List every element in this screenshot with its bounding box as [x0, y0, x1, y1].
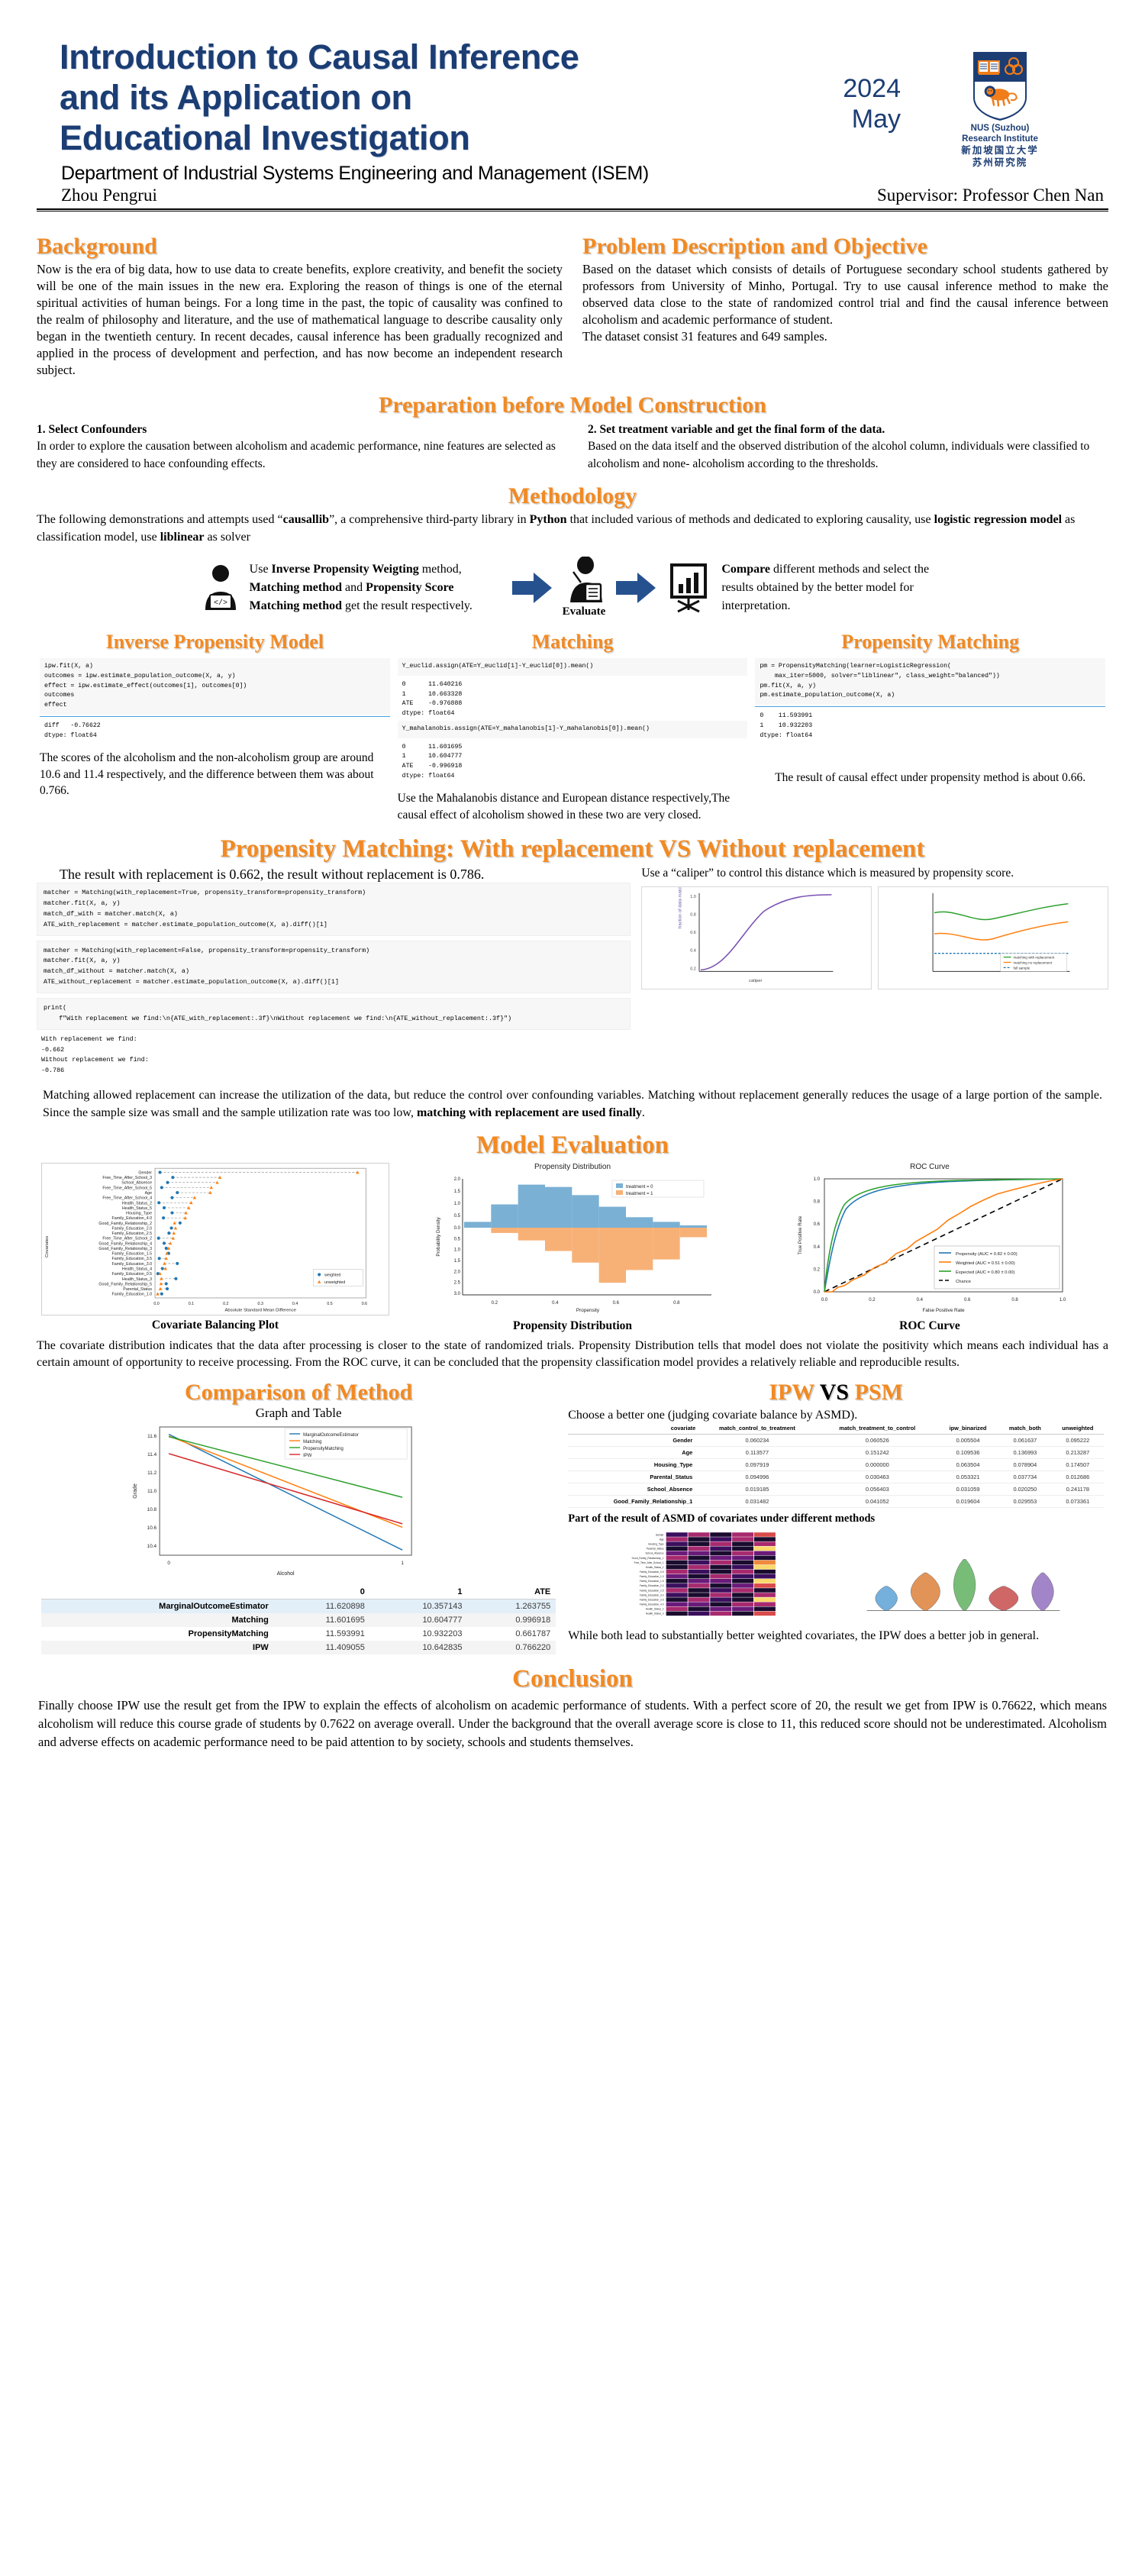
svg-text:2.5: 2.5: [454, 1280, 461, 1285]
logo-en-line1: NUS (Suzhou): [950, 123, 1050, 134]
ipw-label: IPW: [769, 1380, 814, 1405]
svg-text:full sample: full sample: [1014, 966, 1030, 970]
matching-note: Use the Mahalanobis distance and Europea…: [398, 790, 748, 823]
methodology-flow: </> Use Inverse Propensity Weigting meth…: [37, 557, 1108, 618]
table-row: Parental_Status 0.094996 0.030463 0.0533…: [568, 1471, 1104, 1483]
matching-code-input-2: Y_mahalanobis.assign(ATE=Y_mahalanobis[1…: [398, 721, 748, 738]
svg-text:matching no replacement: matching no replacement: [1014, 960, 1053, 964]
asmd-th-4: match_both: [998, 1422, 1052, 1435]
svg-text:matching with replacement: matching with replacement: [1014, 955, 1055, 959]
svg-text:11.4: 11.4: [147, 1452, 156, 1457]
meth-python: Python: [530, 513, 567, 526]
asmd-th-5: unweighted: [1052, 1422, 1104, 1435]
teacher-presenting-icon: [563, 557, 605, 604]
svg-text:Family_Education_1.5: Family_Education_1.5: [640, 1580, 664, 1583]
svg-text:Family_Education_3.5: Family_Education_3.5: [640, 1599, 664, 1602]
svg-text:0.4: 0.4: [691, 948, 697, 953]
asmd-r0-v1: 0.060526: [818, 1435, 937, 1447]
cmp-row3-v0: 11.409055: [274, 1641, 370, 1654]
svg-text:Alcohol: Alcohol: [277, 1571, 295, 1577]
cmp-row0-v2: 1.263755: [467, 1600, 556, 1614]
asmd-r1-v3: 0.136993: [998, 1447, 1052, 1459]
asmd-r4-v4: 0.241178: [1052, 1483, 1104, 1496]
asmd-r4-v3: 0.020250: [998, 1483, 1052, 1496]
code-person-icon: </>: [202, 564, 239, 612]
evaluation-charts-row: GenderFree_Time_After_School_3School_Abs…: [31, 1163, 1114, 1333]
asmd-r2-v1: 0.000000: [818, 1459, 937, 1471]
svg-text:fraction of data matched: fraction of data matched: [679, 887, 683, 928]
background-heading: Background: [37, 234, 563, 260]
svg-text:Health_Status_3: Health_Status_3: [646, 1612, 664, 1616]
svg-text:Gender: Gender: [656, 1533, 665, 1536]
asmd-r2-v4: 0.174507: [1052, 1459, 1104, 1471]
asmd-r4-v0: 0.019185: [697, 1483, 817, 1496]
evaluation-section: Model Evaluation GenderFree_Time_After_S…: [31, 1131, 1114, 1372]
svg-text:unweighted: unweighted: [324, 1280, 345, 1285]
matching-code-output-1: 0 11.640216 1 10.663328 ATE -0.976888 dt…: [398, 676, 748, 721]
propensity-distribution-chart: 2.01.51.00.50.00.51.01.52.02.53.0 0.20.4…: [398, 1173, 747, 1316]
nus-crest-icon: [970, 50, 1030, 121]
svg-text:0: 0: [167, 1561, 170, 1566]
svg-text:Free_Time_After_School_5: Free_Time_After_School_5: [102, 1186, 152, 1190]
title-line-1: Introduction to Causal Inference: [60, 37, 718, 77]
table-row: Housing_Type 0.097919 0.000000 0.063504 …: [568, 1459, 1104, 1471]
cmp-row2-v0: 11.593991: [274, 1627, 370, 1641]
asmd-r1-name: Age: [568, 1447, 697, 1459]
asmd-r0-v2: 0.005504: [937, 1435, 998, 1447]
flow-b1: Inverse Propensity Weigting: [272, 563, 419, 576]
table-row: Good_Family_Relationship_1 0.031482 0.04…: [568, 1496, 1104, 1508]
covariate-balancing-cell: GenderFree_Time_After_School_3School_Abs…: [41, 1163, 389, 1332]
svg-text:2.0: 2.0: [454, 1177, 461, 1182]
meth-t1: The following demonstrations and attempt…: [37, 513, 283, 526]
cmp-row1-v0: 11.601695: [274, 1613, 370, 1627]
table-row: Matching 11.601695 10.604777 0.996918: [41, 1613, 556, 1627]
svg-text:1.0: 1.0: [454, 1248, 461, 1252]
ipw-code-output: diff -0.76622 dtype: float64: [40, 717, 390, 742]
logo-text-en: NUS (Suzhou) Research Institute: [950, 123, 1050, 144]
svg-text:Family_Education_1.0: Family_Education_1.0: [640, 1575, 664, 1578]
preparation-item-2-title: 2. Set treatment variable and get the fi…: [588, 423, 885, 436]
svg-text:MarginalOutcomeEstimator: MarginalOutcomeEstimator: [303, 1433, 359, 1438]
table-row: IPW 11.409055 10.642835 0.766220: [41, 1641, 556, 1654]
svg-text:0.2: 0.2: [223, 1301, 228, 1306]
comparison-table-header-row: 0 1 ATE: [41, 1585, 556, 1600]
svg-text:0.6: 0.6: [613, 1301, 620, 1306]
psm-code-output: 0 11.593991 1 10.932203 dtype: float64: [755, 707, 1105, 742]
repl-para-bold: matching with replacement are used final…: [417, 1106, 642, 1119]
replacement-paragraph: Matching allowed replacement can increas…: [37, 1087, 1108, 1122]
authors-line: Zhou Pengrui Supervisor: Professor Chen …: [31, 186, 1114, 205]
svg-text:Family_Education_0.5: Family_Education_0.5: [640, 1570, 664, 1574]
asmd-r5-v0: 0.031482: [697, 1496, 817, 1508]
svg-text:0.6: 0.6: [691, 931, 697, 935]
asmd-r0-v0: 0.060234: [697, 1435, 817, 1447]
supervisor-name: Supervisor: Professor Chen Nan: [877, 186, 1104, 205]
meth-model: logistic regression model: [934, 513, 1062, 526]
header-divider-thin: [37, 211, 1108, 211]
svg-text:Housing_Type: Housing_Type: [648, 1543, 664, 1546]
ipw-psm-heading: IPW VS PSM: [568, 1380, 1104, 1406]
page-title: Introduction to Causal Inference and its…: [31, 37, 718, 158]
conclusion-section: Conclusion Finally choose IPW use the re…: [31, 1665, 1114, 1751]
table-row: School_Absence 0.019185 0.056403 0.03105…: [568, 1483, 1104, 1496]
caliper-fraction-chart: fraction of data matched 1.0 0.8 0.6 0.4…: [641, 886, 872, 989]
roc-curve-chart: 0.00.20.40.60.81.0 0.00.20.40.60.81.0 Tr…: [756, 1173, 1104, 1316]
cmp-row2-v2: 0.661787: [467, 1627, 556, 1641]
meth-t5: as solver: [205, 531, 250, 544]
repl-para-end: .: [642, 1106, 645, 1119]
flow-r-bold: Compare: [721, 563, 770, 576]
svg-text:0.0: 0.0: [454, 1226, 461, 1231]
asmd-r2-name: Housing_Type: [568, 1459, 697, 1471]
flow-step-evaluate: Evaluate: [563, 557, 606, 618]
background-text: Now is the era of big data, how to use d…: [37, 261, 563, 379]
svg-text:Family_Education_3.0: Family_Education_3.0: [112, 1261, 153, 1266]
psm-code-input: pm = PropensityMatching(learner=Logistic…: [755, 658, 1105, 705]
svg-text:0.4: 0.4: [814, 1244, 821, 1249]
svg-text:11.0: 11.0: [147, 1489, 156, 1494]
svg-text:Grade: Grade: [133, 1483, 138, 1499]
intro-section: Background Now is the era of big data, h…: [31, 234, 1114, 379]
comparison-th-1: 1: [370, 1585, 468, 1600]
cmp-row3-v2: 0.766220: [467, 1641, 556, 1654]
flow-step-1-text: Use Inverse Propensity Weigting method, …: [250, 560, 502, 615]
svg-text:IPW: IPW: [303, 1454, 312, 1458]
svg-text:Good_Family_Relationship_5: Good_Family_Relationship_5: [98, 1282, 152, 1286]
svg-text:0.2: 0.2: [814, 1267, 821, 1272]
bar-chart-board-icon: [666, 563, 711, 613]
flow-step-3-text: Compare different methods and select the…: [721, 560, 943, 615]
conclusion-heading: Conclusion: [38, 1665, 1107, 1693]
asmd-r1-v2: 0.109536: [937, 1447, 998, 1459]
flow-l3: and: [342, 581, 366, 594]
svg-text:0.0: 0.0: [153, 1301, 159, 1306]
svg-text:School_Absence: School_Absence: [646, 1552, 664, 1555]
asmd-r0-v4: 0.095222: [1052, 1435, 1104, 1447]
title-line-3: Educational Investigation: [60, 118, 718, 158]
author-name: Zhou Pengrui: [61, 186, 157, 205]
asmd-th-1: match_control_to_treatment: [697, 1422, 817, 1435]
ipw-psm-subtitle: Choose a better one (judging covariate b…: [568, 1409, 1104, 1422]
replacement-subtitle: The result with replacement is 0.662, th…: [37, 867, 631, 883]
models-section: Inverse Propensity Model ipw.fit(X, a) o…: [31, 631, 1114, 823]
svg-text:0.6: 0.6: [814, 1222, 821, 1227]
svg-text:Absolute Standard Mean Differe: Absolute Standard Mean Difference: [224, 1308, 296, 1312]
roc-curve-caption: ROC Curve: [756, 1319, 1104, 1333]
svg-text:Family_Education_2.5: Family_Education_2.5: [112, 1232, 153, 1236]
svg-text:Housing_Type: Housing_Type: [126, 1211, 152, 1215]
svg-text:weighted: weighted: [324, 1273, 340, 1277]
svg-text:Weighted (AUC = 0.51 ± 0.00): Weighted (AUC = 0.51 ± 0.00): [956, 1261, 1015, 1266]
svg-text:0.5: 0.5: [454, 1214, 461, 1219]
meth-t3: that included various of methods and ded…: [567, 513, 934, 526]
poster-header: Introduction to Causal Inference and its…: [31, 0, 1114, 229]
svg-text:0.0: 0.0: [821, 1298, 828, 1303]
comparison-table: 0 1 ATE MarginalOutcomeEstimator 11.6208…: [41, 1585, 556, 1654]
logo-text-cn: 新加坡国立大学 苏州研究院: [950, 145, 1050, 169]
svg-text:Good_Family_Relationship_2: Good_Family_Relationship_2: [98, 1221, 152, 1225]
problem-text-2: The dataset consist 31 features and 649 …: [582, 328, 1108, 345]
svg-text:Family_Education_3.5: Family_Education_3.5: [112, 1257, 153, 1261]
replacement-heading: Propensity Matching: With replacement VS…: [37, 835, 1108, 864]
header-divider: [37, 208, 1108, 210]
problem-text: Based on the dataset which consists of d…: [582, 261, 1108, 328]
model-matching: Matching Y_euclid.assign(ATE=Y_euclid[1]…: [398, 631, 748, 823]
flow-l4: get the result respectively.: [342, 599, 473, 612]
svg-text:PropensityMatching: PropensityMatching: [303, 1447, 343, 1451]
svg-text:0.6: 0.6: [964, 1298, 971, 1303]
meth-solver: liblinear: [160, 531, 205, 544]
asmd-header-row: covariate match_control_to_treatment mat…: [568, 1422, 1104, 1435]
svg-text:True Positive Rate: True Positive Rate: [798, 1215, 803, 1254]
svg-text:1.0: 1.0: [454, 1202, 461, 1206]
svg-text:0.8: 0.8: [814, 1199, 821, 1204]
psm-note: The result of causal effect under propen…: [755, 770, 1105, 786]
ipw-psm-conclusion: While both lead to substantially better …: [568, 1628, 1104, 1645]
svg-text:Probability Density: Probability Density: [436, 1216, 441, 1256]
asmd-r4-v1: 0.056403: [818, 1483, 937, 1496]
svg-text:0.1: 0.1: [189, 1301, 194, 1306]
roc-chart-title: ROC Curve: [756, 1163, 1104, 1171]
svg-text:0.5: 0.5: [327, 1301, 332, 1306]
svg-text:0.2: 0.2: [869, 1298, 876, 1303]
svg-text:3.0: 3.0: [454, 1292, 461, 1296]
svg-text:0.2: 0.2: [492, 1301, 498, 1306]
cmp-row0-v1: 10.357143: [370, 1600, 468, 1614]
replacement-code-2: matcher = Matching(with_replacement=Fals…: [37, 941, 631, 993]
asmd-th-cov: covariate: [568, 1422, 697, 1435]
preparation-item-2-text: Based on the data itself and the observe…: [588, 440, 1089, 470]
asmd-r5-name: Good_Family_Relationship_1: [568, 1496, 697, 1508]
roc-curve-cell: ROC Curve 0.00.20.40.60.81.0 0.00.20.40.…: [756, 1163, 1104, 1333]
flow-l2: method,: [419, 563, 462, 576]
flow-b2: Matching method: [250, 581, 342, 594]
asmd-r1-v1: 0.151242: [818, 1447, 937, 1459]
svg-text:1.5: 1.5: [454, 1190, 461, 1194]
asmd-heatmap: GenderAgeHousing_TypeParental_StatusScho…: [568, 1530, 811, 1622]
svg-text:Family_Education_0.5: Family_Education_0.5: [112, 1272, 153, 1277]
vs-label: VS: [814, 1380, 855, 1405]
asmd-r4-name: School_Absence: [568, 1483, 697, 1496]
caliper-charts: fraction of data matched 1.0 0.8 0.6 0.4…: [641, 886, 1108, 989]
svg-text:</>: </>: [214, 599, 227, 608]
replacement-code-1: matcher = Matching(with_replacement=True…: [37, 883, 631, 935]
comparison-section: Comparison of Method Graph and Table 11.…: [31, 1380, 1114, 1654]
table-row: MarginalOutcomeEstimator 11.620898 10.35…: [41, 1600, 556, 1614]
svg-text:0.6: 0.6: [362, 1301, 367, 1306]
cmp-row0-v0: 11.620898: [274, 1600, 370, 1614]
svg-text:Matching: Matching: [303, 1440, 321, 1445]
svg-text:Expected (AUC = 0.80 ± 0.00): Expected (AUC = 0.80 ± 0.00): [956, 1270, 1015, 1275]
svg-text:0.8: 0.8: [691, 912, 697, 917]
comparison-th-ate: ATE: [467, 1585, 556, 1600]
comparison-th-0: 0: [274, 1585, 370, 1600]
evaluation-text: The covariate distribution indicates tha…: [31, 1338, 1114, 1372]
svg-text:11.2: 11.2: [147, 1470, 156, 1476]
meth-t2: ”, a comprehensive third-party library i…: [329, 513, 530, 526]
svg-text:0.2: 0.2: [691, 967, 697, 971]
asmd-r3-v3: 0.037734: [998, 1471, 1052, 1483]
asmd-r2-v3: 0.078904: [998, 1459, 1052, 1471]
asmd-r0-name: Gender: [568, 1435, 697, 1447]
comparison-heading: Comparison of Method: [41, 1380, 556, 1406]
table-row: Age 0.113577 0.151242 0.109536 0.136993 …: [568, 1447, 1104, 1459]
svg-text:2.0: 2.0: [454, 1270, 461, 1274]
svg-text:0.5: 0.5: [454, 1237, 461, 1241]
violin-plot: [818, 1530, 1104, 1622]
table-row: Gender 0.060234 0.060526 0.005504 0.0616…: [568, 1435, 1104, 1447]
nus-logo-block: NUS (Suzhou) Research Institute 新加坡国立大学 …: [950, 50, 1050, 169]
svg-text:Propensity: Propensity: [576, 1308, 600, 1313]
svg-text:Gender: Gender: [138, 1170, 152, 1175]
svg-text:Health_Status_5: Health_Status_5: [122, 1206, 152, 1211]
asmd-r5-v4: 0.073361: [1052, 1496, 1104, 1508]
problem-column: Problem Description and Objective Based …: [582, 234, 1108, 379]
ipw-code-input: ipw.fit(X, a) outcomes = ipw.estimate_po…: [40, 658, 390, 715]
asmd-r1-v4: 0.213287: [1052, 1447, 1104, 1459]
svg-text:Age: Age: [145, 1191, 152, 1196]
comparison-subtitle: Graph and Table: [41, 1406, 556, 1421]
svg-text:School_Absence: School_Absence: [121, 1180, 152, 1185]
evaluate-caption: Evaluate: [563, 605, 606, 618]
preparation-section: Preparation before Model Construction 1.…: [31, 392, 1114, 473]
preparation-item-1: 1. Select Confounders In order to explor…: [37, 421, 557, 473]
svg-text:Family_Education_4.0: Family_Education_4.0: [112, 1216, 153, 1221]
svg-text:caliper: caliper: [749, 979, 762, 983]
methodology-section: Methodology The following demonstrations…: [31, 483, 1114, 618]
asmd-r2-v2: 0.063504: [937, 1459, 998, 1471]
asmd-r5-v3: 0.029553: [998, 1496, 1052, 1508]
cmp-row1-v2: 0.996918: [467, 1613, 556, 1627]
svg-text:Free_Time_After_School_3: Free_Time_After_School_3: [102, 1176, 152, 1180]
asmd-r3-name: Parental_Status: [568, 1471, 697, 1483]
psm-heading: Propensity Matching: [755, 631, 1105, 654]
cmp-row1-name: Matching: [41, 1613, 274, 1627]
replacement-code-output: With replacement we find: -0.662 Without…: [37, 1035, 631, 1077]
cmp-row3-name: IPW: [41, 1641, 274, 1654]
svg-text:Free_Time_After_School_4: Free_Time_After_School_4: [102, 1196, 152, 1200]
svg-text:Health_Status_2: Health_Status_2: [122, 1201, 152, 1206]
svg-text:Free_Time_After_School_1: Free_Time_After_School_1: [634, 1561, 664, 1564]
svg-text:0.4: 0.4: [917, 1298, 924, 1303]
svg-text:0.3: 0.3: [258, 1301, 263, 1306]
svg-text:Covariates: Covariates: [45, 1235, 50, 1257]
svg-text:1.5: 1.5: [454, 1259, 461, 1264]
svg-text:Good_Family_Relationship_1: Good_Family_Relationship_1: [632, 1557, 664, 1560]
svg-text:Health_Status_2: Health_Status_2: [646, 1608, 664, 1611]
asmd-r5-v1: 0.041052: [818, 1496, 937, 1508]
comparison-th-blank: [41, 1585, 274, 1600]
caliper-note: Use a “caliper” to control this distance…: [641, 865, 1108, 881]
cmp-row3-v1: 10.642835: [370, 1641, 468, 1654]
svg-text:False Positive Rate: False Positive Rate: [922, 1308, 964, 1313]
preparation-item-1-title: 1. Select Confounders: [37, 423, 147, 436]
svg-text:1.0: 1.0: [1060, 1298, 1066, 1303]
right-arrow-icon-2: [616, 573, 656, 603]
propensity-distribution-caption: Propensity Distribution: [398, 1319, 747, 1333]
model-ipw: Inverse Propensity Model ipw.fit(X, a) o…: [40, 631, 390, 823]
svg-text:Family_Education_2.0: Family_Education_2.0: [640, 1584, 664, 1587]
title-line-2: and its Application on: [60, 77, 718, 118]
asmd-th-2: match_treatment_to_control: [818, 1422, 937, 1435]
asmd-table: covariate match_control_to_treatment mat…: [568, 1422, 1104, 1508]
matching-heading: Matching: [398, 631, 748, 654]
svg-text:Family_Education_1.5: Family_Education_1.5: [112, 1251, 153, 1256]
methodology-text: The following demonstrations and attempt…: [37, 511, 1108, 546]
svg-text:Chance: Chance: [956, 1280, 971, 1284]
svg-text:Family_Education_2.5: Family_Education_2.5: [640, 1589, 664, 1592]
meth-lib: causallib: [283, 513, 329, 526]
svg-text:1.0: 1.0: [814, 1177, 821, 1182]
year-label: 2024: [809, 73, 901, 104]
preparation-columns: 1. Select Confounders In order to explor…: [37, 421, 1108, 473]
caliper-comparison-chart: matching with replacement matching no re…: [878, 886, 1108, 989]
svg-text:0.8: 0.8: [673, 1301, 680, 1306]
asmd-r4-v2: 0.031059: [937, 1483, 998, 1496]
asmd-caption: Part of the result of ASMD of covariates…: [568, 1512, 1104, 1525]
preparation-item-1-text: In order to explore the causation betwee…: [37, 440, 556, 470]
methodology-heading: Methodology: [37, 483, 1108, 509]
ipw-note: The scores of the alcoholism and the non…: [40, 750, 390, 799]
svg-text:0.4: 0.4: [552, 1301, 559, 1306]
svg-text:Health_Status_4: Health_Status_4: [122, 1267, 152, 1271]
conclusion-text: Finally choose IPW use the result get fr…: [38, 1696, 1107, 1751]
covariate-balancing-chart: GenderFree_Time_After_School_3School_Abs…: [41, 1163, 389, 1315]
svg-text:10.8: 10.8: [147, 1507, 157, 1512]
asmd-r0-v3: 0.061637: [998, 1435, 1052, 1447]
propensity-chart-title: Propensity Distribution: [398, 1163, 747, 1171]
date-block: 2024 May: [809, 73, 901, 134]
svg-text:0.8: 0.8: [1011, 1298, 1018, 1303]
cmp-row1-v1: 10.604777: [370, 1613, 468, 1627]
svg-text:Parental_Status: Parental_Status: [647, 1548, 664, 1551]
cmp-row0-name: MarginalOutcomeEstimator: [41, 1600, 274, 1614]
asmd-r5-v2: 0.019604: [937, 1496, 998, 1508]
asmd-r1-v0: 0.113577: [697, 1447, 817, 1459]
preparation-item-2: 2. Set treatment variable and get the fi…: [588, 421, 1108, 473]
svg-text:1: 1: [401, 1561, 404, 1566]
svg-text:Health_Status_1: Health_Status_1: [646, 1566, 664, 1569]
logo-cn-line2: 苏州研究院: [950, 157, 1050, 169]
comparison-line-chart: 11.611.411.211.010.810.610.4 01 Grade Al…: [41, 1421, 556, 1585]
svg-text:treatment = 1: treatment = 1: [626, 1192, 653, 1196]
svg-text:0.4: 0.4: [292, 1301, 298, 1306]
comparison-left: Comparison of Method Graph and Table 11.…: [41, 1380, 556, 1654]
cmp-row2-v1: 10.932203: [370, 1627, 468, 1641]
covariate-balancing-caption: Covariate Balancing Plot: [41, 1319, 389, 1332]
logo-en-line2: Research Institute: [950, 134, 1050, 144]
ipw-heading: Inverse Propensity Model: [40, 631, 390, 654]
svg-text:Parental_Status: Parental_Status: [123, 1287, 152, 1292]
svg-text:1.0: 1.0: [691, 894, 697, 899]
flow-l1: Use: [250, 563, 272, 576]
svg-text:0.0: 0.0: [814, 1290, 821, 1295]
asmd-r3-v1: 0.030463: [818, 1471, 937, 1483]
asmd-r3-v2: 0.053321: [937, 1471, 998, 1483]
ipw-psm-column: IPW VS PSM Choose a better one (judging …: [568, 1380, 1104, 1645]
replacement-section: Propensity Matching: With replacement VS…: [31, 835, 1114, 1122]
right-arrow-icon-1: [512, 573, 552, 603]
asmd-r3-v4: 0.012686: [1052, 1471, 1104, 1483]
asmd-r2-v0: 0.097919: [697, 1459, 817, 1471]
table-row: PropensityMatching 11.593991 10.932203 0…: [41, 1627, 556, 1641]
svg-text:11.6: 11.6: [147, 1434, 156, 1439]
problem-heading: Problem Description and Objective: [582, 234, 1108, 260]
matching-code-output-2: 0 11.601695 1 10.604777 ATE -0.996918 dt…: [398, 738, 748, 783]
logo-cn-line1: 新加坡国立大学: [950, 145, 1050, 157]
svg-text:Propensity (AUC = 0.82 ± 0.00): Propensity (AUC = 0.82 ± 0.00): [956, 1252, 1018, 1257]
